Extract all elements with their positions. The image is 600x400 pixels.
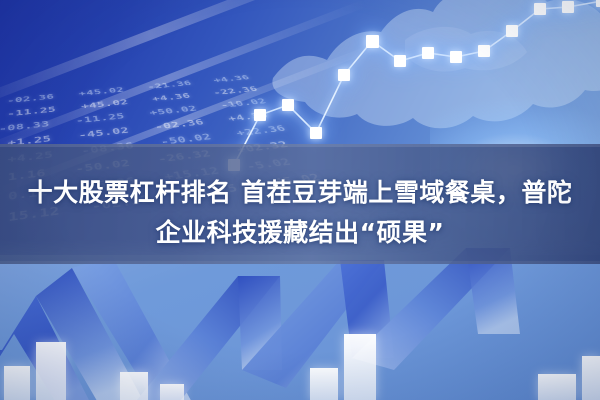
news-banner: -05.02 -02.36 +45.02 -21.36 +4.36 -02.35… xyxy=(0,0,600,400)
vignette-overlay xyxy=(0,0,600,400)
